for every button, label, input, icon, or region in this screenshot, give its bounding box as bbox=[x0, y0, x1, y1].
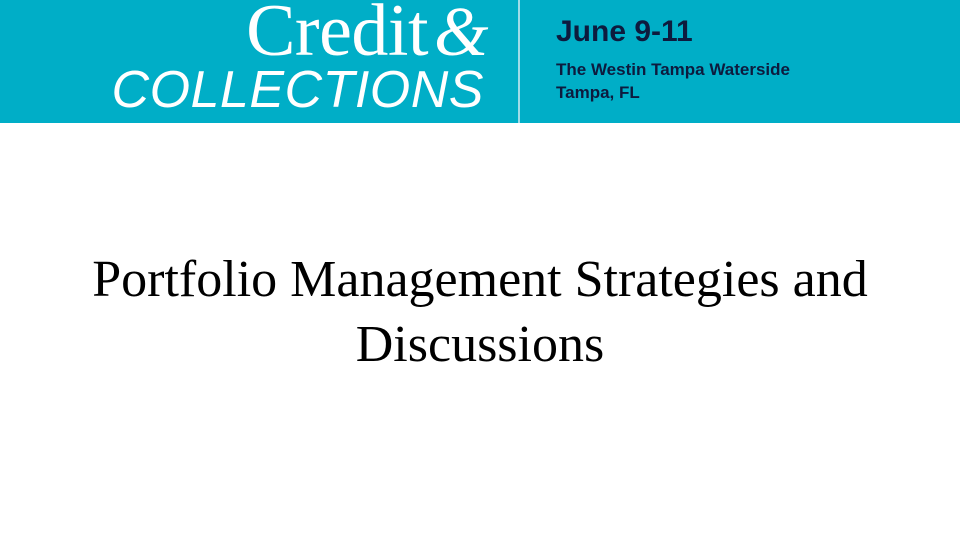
header-banner: Credit& COLLECTIONS June 9-11 The Westin… bbox=[0, 0, 960, 123]
brand-logo: Credit& COLLECTIONS bbox=[0, 0, 500, 123]
event-venue: The Westin Tampa Waterside bbox=[556, 58, 946, 81]
event-location: Tampa, FL bbox=[556, 81, 946, 104]
presentation-slide: Credit& COLLECTIONS June 9-11 The Westin… bbox=[0, 0, 960, 540]
event-details: June 9-11 The Westin Tampa Waterside Tam… bbox=[556, 12, 946, 104]
slide-title: Portfolio Management Strategies and Disc… bbox=[60, 247, 900, 377]
brand-logo-secondary-text: COLLECTIONS bbox=[0, 62, 484, 118]
event-dates: June 9-11 bbox=[556, 12, 946, 52]
header-divider bbox=[518, 0, 520, 123]
slide-body: Portfolio Management Strategies and Disc… bbox=[0, 123, 960, 540]
